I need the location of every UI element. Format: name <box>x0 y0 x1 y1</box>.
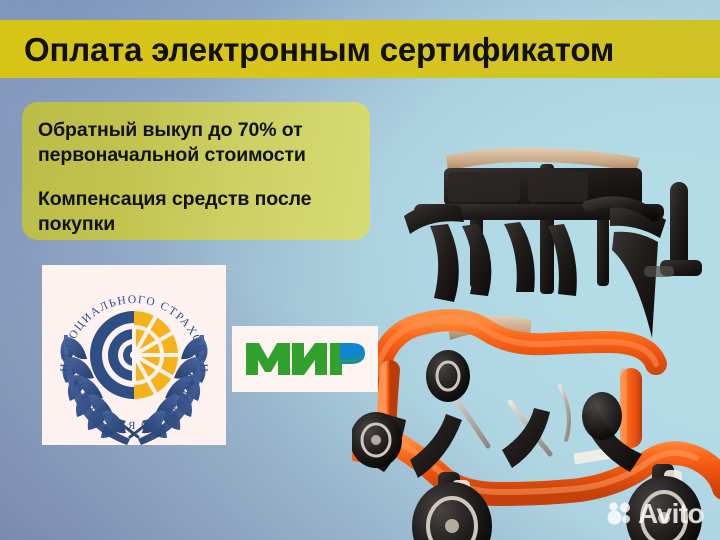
walker-illustration <box>352 120 720 540</box>
mir-logo-panel <box>232 326 378 392</box>
fss-logo-icon: ФОНД СОЦИАЛЬНОГО СТРАХОВАНИЯ РОССИЙСКАЯ … <box>42 265 226 445</box>
promo-image: Оплата электронным сертификатом Обратный… <box>0 0 720 540</box>
benefit-line-1: Обратный выкуп до 70% от первоначальной … <box>38 118 352 168</box>
fss-emblem-gold-half <box>134 311 178 399</box>
wheel-center <box>426 350 470 402</box>
avito-wordmark: Avito <box>638 500 704 528</box>
wheel-rear-upper <box>582 392 622 440</box>
product-photo-walker <box>352 120 720 540</box>
title-banner: Оплата электронным сертификатом <box>0 20 720 78</box>
wheel-rear-left <box>352 412 402 468</box>
benefits-box: Обратный выкуп до 70% от первоначальной … <box>22 102 370 240</box>
fss-emblem-blue-half <box>90 311 134 399</box>
avito-watermark: Avito <box>606 500 704 528</box>
fss-logo-panel: ФОНД СОЦИАЛЬНОГО СТРАХОВАНИЯ РОССИЙСКАЯ … <box>42 265 226 445</box>
benefit-line-2: Компенсация средств после покупки <box>38 187 352 237</box>
page-title: Оплата электронным сертификатом <box>24 33 614 66</box>
mir-logo-icon <box>244 339 366 379</box>
avito-dots-icon <box>606 501 632 527</box>
